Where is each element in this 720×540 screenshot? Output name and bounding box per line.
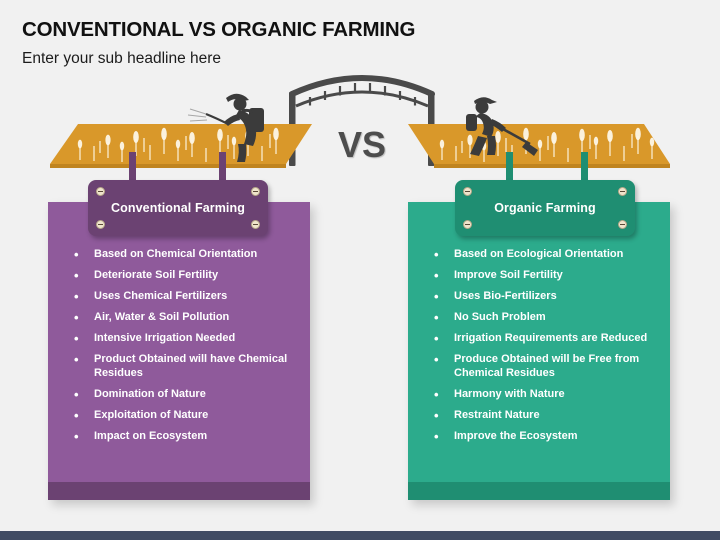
list-item: Uses Chemical Fertilizers: [64, 290, 296, 304]
list-item: Impact on Ecosystem: [64, 430, 296, 444]
farmer-hoeing-icon: [408, 86, 670, 176]
list-item: Harmony with Nature: [424, 388, 656, 402]
list-item: Air, Water & Soil Pollution: [64, 311, 296, 325]
list-item: Based on Chemical Orientation: [64, 248, 296, 262]
conventional-farming-sign[interactable]: Conventional Farming: [88, 180, 268, 236]
farmer-spraying-pesticide-icon: [50, 86, 312, 176]
list-item: Exploitation of Nature: [64, 409, 296, 423]
list-item: Restraint Nature: [424, 409, 656, 423]
slide-canvas: CONVENTIONAL VS ORGANIC FARMING Enter yo…: [0, 0, 720, 540]
page-subtitle: Enter your sub headline here: [22, 50, 221, 68]
list-item: Domination of Nature: [64, 388, 296, 402]
list-item: Deteriorate Soil Fertility: [64, 269, 296, 283]
list-item: Product Obtained will have Chemical Resi…: [64, 353, 296, 380]
panel-footer-right: [408, 482, 670, 500]
slide-bottom-bar: [0, 531, 720, 540]
page-title: CONVENTIONAL VS ORGANIC FARMING: [22, 18, 415, 42]
conventional-farming-sign-label: Conventional Farming: [88, 180, 268, 236]
list-item: Produce Obtained will be Free from Chemi…: [424, 353, 656, 380]
conventional-farming-bullet-list: Based on Chemical OrientationDeteriorate…: [48, 248, 310, 451]
list-item: Improve the Ecosystem: [424, 430, 656, 444]
organic-farming-sign[interactable]: Organic Farming: [455, 180, 635, 236]
organic-farming-bullet-list: Based on Ecological OrientationImprove S…: [408, 248, 670, 451]
list-item: Intensive Irrigation Needed: [64, 332, 296, 346]
list-item: No Such Problem: [424, 311, 656, 325]
panel-footer-left: [48, 482, 310, 500]
list-item: Irrigation Requirements are Reduced: [424, 332, 656, 346]
list-item: Based on Ecological Orientation: [424, 248, 656, 262]
organic-farming-sign-label: Organic Farming: [455, 180, 635, 236]
list-item: Uses Bio-Fertilizers: [424, 290, 656, 304]
list-item: Improve Soil Fertility: [424, 269, 656, 283]
organic-farming-panel: Based on Ecological OrientationImprove S…: [408, 202, 670, 500]
conventional-farming-panel: Based on Chemical OrientationDeteriorate…: [48, 202, 310, 500]
versus-label: VS: [330, 124, 394, 166]
